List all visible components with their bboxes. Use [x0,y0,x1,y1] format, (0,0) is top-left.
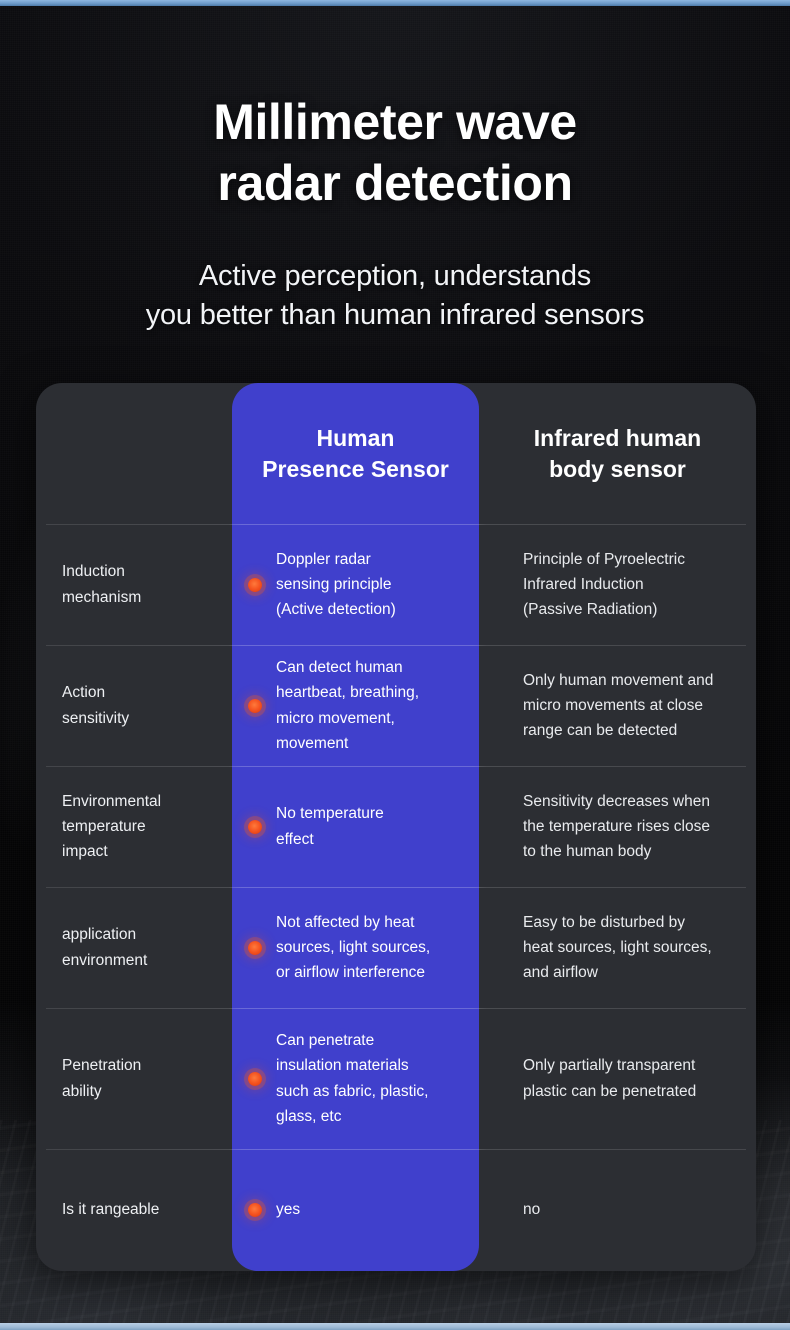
page-title-line-1: Millimeter wave [0,92,790,153]
row-highlight-cell: Doppler radarsensing principle(Active de… [232,524,479,645]
row-plain-cell: Only partially transparentplastic can be… [479,1008,756,1149]
row-highlight-cell: Can penetrateinsulation materialssuch as… [232,1008,479,1149]
row-plain-text: Easy to be disturbed byheat sources, lig… [523,910,712,985]
row-label-text: Penetrationability [62,1053,141,1103]
header-highlight-line-1: Human [262,423,449,454]
row-highlight-text: Can penetrateinsulation materialssuch as… [276,1028,428,1128]
row-plain-text: Only human movement andmicro movements a… [523,668,713,743]
row-plain-text: Sensitivity decreases whenthe temperatur… [523,789,710,864]
bullet-dot-icon [248,941,262,955]
row-label-text: Inductionmechanism [62,559,141,609]
bullet-dot-icon [248,1072,262,1086]
row-plain-cell: Easy to be disturbed byheat sources, lig… [479,887,756,1008]
row-label-cell: Is it rangeable [36,1149,232,1270]
header-cell-human-presence-sensor: Human Presence Sensor [232,383,479,524]
table-row: Inductionmechanism Doppler radarsensing … [36,524,756,645]
row-label-text: Actionsensitivity [62,680,129,730]
header-cell-feature [36,383,232,524]
row-highlight-text: yes [276,1197,300,1222]
header-plain-line-1: Infrared human [534,423,701,454]
row-highlight-text: Not affected by heatsources, light sourc… [276,910,430,985]
row-plain-cell: Sensitivity decreases whenthe temperatur… [479,766,756,887]
row-highlight-text: No temperatureeffect [276,801,384,851]
bullet-dot-icon [248,820,262,834]
header-highlight-title: Human Presence Sensor [262,423,449,484]
page-title-line-2: radar detection [0,153,790,214]
row-label-text: Environmentaltemperatureimpact [62,789,161,864]
table-header-row: Human Presence Sensor Infrared human bod… [36,383,756,524]
row-plain-cell: Principle of PyroelectricInfrared Induct… [479,524,756,645]
row-highlight-cell: Not affected by heatsources, light sourc… [232,887,479,1008]
row-label-cell: Environmentaltemperatureimpact [36,766,232,887]
row-plain-cell: no [479,1149,756,1270]
row-label-text: applicationenvironment [62,922,147,972]
header-plain-line-2: body sensor [534,454,701,485]
comparison-table-card: Human Presence Sensor Infrared human bod… [36,383,756,1271]
bottom-accent-bar [0,1323,790,1330]
page-subtitle: Active perception, understands you bette… [0,257,790,336]
row-label-cell: applicationenvironment [36,887,232,1008]
bullet-dot-icon [248,578,262,592]
header-cell-infrared-body-sensor: Infrared human body sensor [479,383,756,524]
row-label-cell: Penetrationability [36,1008,232,1149]
page-title: Millimeter wave radar detection [0,92,790,214]
comparison-table: Human Presence Sensor Infrared human bod… [36,383,756,1271]
table-row: applicationenvironment Not affected by h… [36,887,756,1008]
table-row: Actionsensitivity Can detect humanheartb… [36,645,756,766]
row-plain-cell: Only human movement andmicro movements a… [479,645,756,766]
table-row: Penetrationability Can penetrateinsulati… [36,1008,756,1149]
row-highlight-cell: Can detect humanheartbeat, breathing,mic… [232,645,479,766]
row-plain-text: Principle of PyroelectricInfrared Induct… [523,547,685,622]
header-highlight-line-2: Presence Sensor [262,454,449,485]
row-plain-text: no [523,1197,540,1222]
bullet-dot-icon [248,699,262,713]
page-subtitle-line-1: Active perception, understands [0,257,790,296]
row-highlight-cell: yes [232,1149,479,1270]
top-accent-bar [0,0,790,6]
comparison-infographic-page: Millimeter wave radar detection Active p… [0,0,790,1330]
row-label-cell: Inductionmechanism [36,524,232,645]
bullet-dot-icon [248,1203,262,1217]
row-label-cell: Actionsensitivity [36,645,232,766]
row-highlight-cell: No temperatureeffect [232,766,479,887]
row-plain-text: Only partially transparentplastic can be… [523,1053,696,1103]
table-row: Environmentaltemperatureimpact No temper… [36,766,756,887]
row-label-text: Is it rangeable [62,1197,159,1222]
header-plain-title: Infrared human body sensor [534,423,701,484]
hero-heading-block: Millimeter wave radar detection Active p… [0,92,790,336]
row-highlight-text: Doppler radarsensing principle(Active de… [276,547,396,622]
page-subtitle-line-2: you better than human infrared sensors [0,296,790,335]
table-row: Is it rangeable yes no [36,1149,756,1270]
row-highlight-text: Can detect humanheartbeat, breathing,mic… [276,655,419,755]
